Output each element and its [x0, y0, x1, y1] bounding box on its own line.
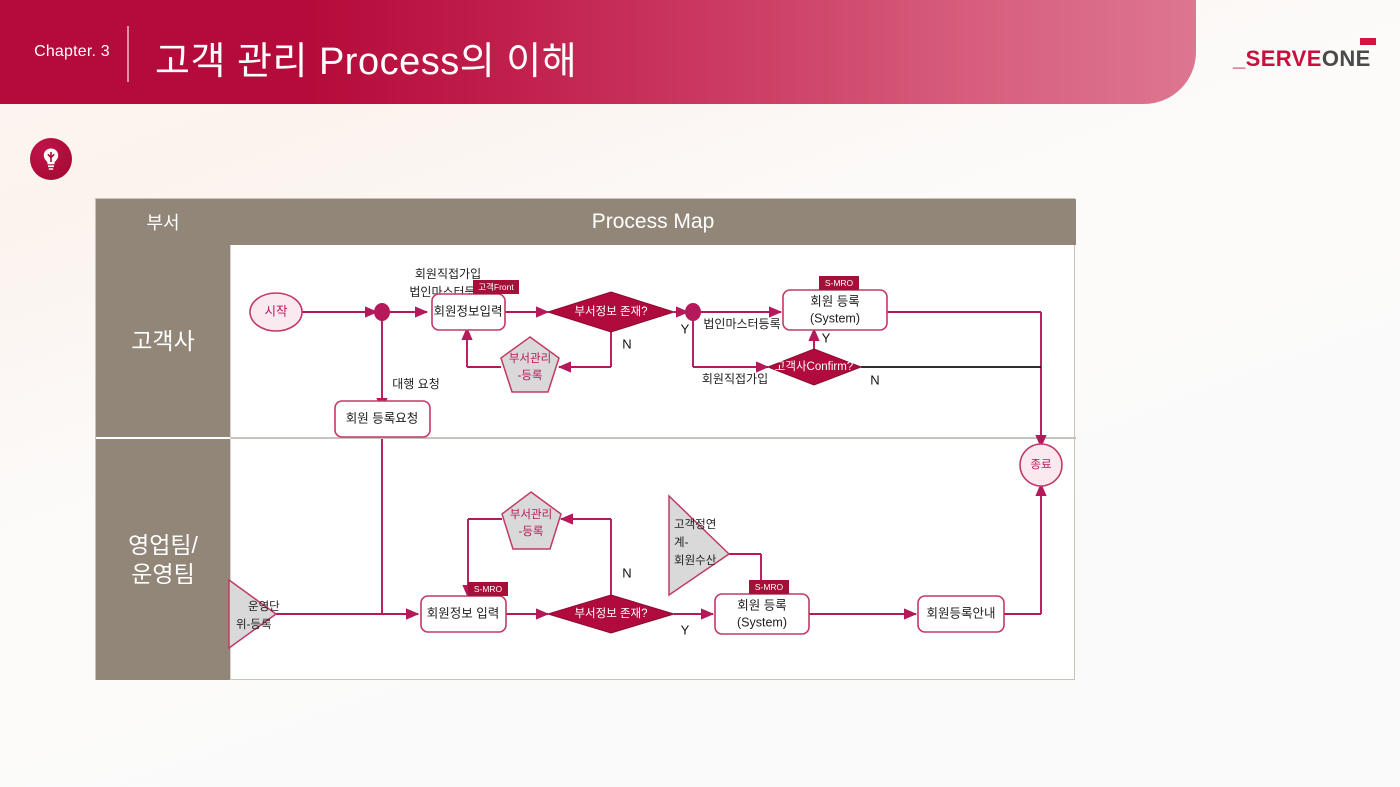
edge-label-yes-2: Y	[822, 330, 831, 345]
logo-one-text: ONE	[1322, 46, 1371, 71]
process-map-frame: 부서 Process Map 고객사 영업팀/ 운영팀	[95, 198, 1075, 680]
node-customer-link-line3: 회원수산	[674, 553, 717, 567]
node-start-label: 시작	[264, 304, 288, 318]
node-dept-mgmt-register-2-line2: -등록	[519, 525, 544, 538]
node-customer-link-line2: 계-	[674, 536, 689, 549]
node-dept-mgmt-register-1-line1: 부서관리	[509, 352, 551, 365]
edge-label-delegate-request: 대행 요청	[392, 376, 440, 391]
node-member-register-system-2-line2: (System)	[737, 615, 787, 629]
node-op-unit-register-line2: 위-등록	[236, 618, 272, 631]
flowchart-canvas: 시작 회원직접가입 법인마스터등록 대행 요청 회원정보입력 고객Front 부…	[96, 199, 1076, 681]
decision-customer-confirm-label: 고객사Confirm?	[775, 360, 853, 373]
node-member-register-system-2-line1: 회원 등록	[737, 598, 786, 612]
node-member-info-input-2-label: 회원정보 입력	[427, 606, 499, 620]
logo-dash-mark	[1360, 38, 1376, 45]
decision-dept-info-exists-2-label: 부서정보 존재?	[574, 607, 647, 620]
edge-label-direct-join-top: 회원직접가입	[415, 267, 481, 281]
node-register-notice-label: 회원등록안내	[926, 606, 995, 620]
node-op-unit-register-triangle	[229, 580, 276, 648]
edge-label-no-1: N	[622, 336, 631, 351]
node-member-register-request-label: 회원 등록요청	[346, 411, 418, 425]
chapter-label: Chapter. 3	[22, 43, 122, 61]
slide: Chapter. 3 고객 관리 Process의 이해 _SERVEONE 부…	[0, 0, 1400, 787]
logo-serve-text: SERVE	[1246, 46, 1322, 71]
node-op-unit-register-line1: 운영단	[248, 600, 280, 613]
header-divider	[127, 26, 129, 82]
page-title: 고객 관리 Process의 이해	[155, 30, 577, 85]
edge-label-no-3: N	[622, 565, 631, 580]
tag-smro-1-label: S-MRO	[825, 278, 854, 288]
lightbulb-icon	[30, 138, 72, 180]
serveone-logo: _SERVEONE	[1233, 46, 1371, 72]
edge-label-no-2: N	[870, 372, 879, 387]
edge-label-yes-1: Y	[681, 321, 690, 336]
tag-smro-2-label: S-MRO	[474, 584, 503, 594]
edge-label-yes-3: Y	[681, 622, 690, 637]
node-member-register-system-1-line2: (System)	[810, 311, 860, 325]
node-member-info-input-label: 회원정보입력	[433, 304, 502, 318]
node-end-label: 종료	[1030, 459, 1051, 471]
logo-lead-mark: _	[1233, 46, 1246, 71]
decision-dept-info-exists-1-label: 부서정보 존재?	[574, 305, 647, 318]
node-dept-mgmt-register-1-line2: -등록	[518, 369, 543, 382]
tag-customer-front-label: 고객Front	[478, 282, 514, 292]
edge-label-direct-join: 회원직접가입	[702, 372, 768, 386]
node-member-register-system-1-line1: 회원 등록	[810, 294, 859, 308]
node-customer-link-line1: 고객정연	[674, 518, 716, 531]
edge-label-corp-master: 법인마스터등록	[703, 317, 780, 331]
node-dept-mgmt-register-2-line1: 부서관리	[510, 508, 552, 521]
tag-smro-3-label: S-MRO	[755, 582, 784, 592]
junction-dot-2	[685, 303, 701, 321]
junction-dot-1	[374, 303, 390, 321]
